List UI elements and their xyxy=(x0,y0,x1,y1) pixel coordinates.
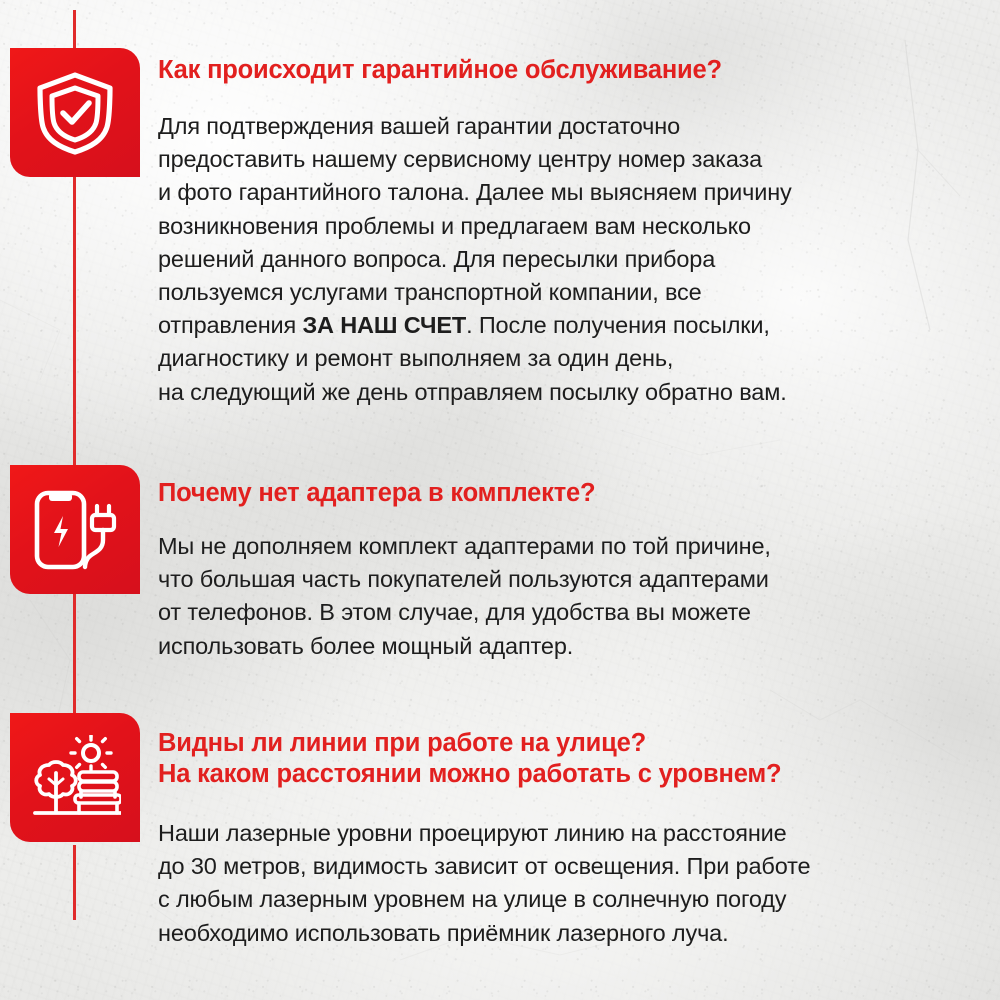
shield-check-icon xyxy=(34,71,116,155)
shield-check-icon-tile xyxy=(10,48,140,177)
answer-text-outdoor: Наши лазерные уровни проецируют линию на… xyxy=(158,817,988,950)
question-heading-warranty: Как происходит гарантийное обслуживание? xyxy=(158,55,988,86)
timeline-rail-bottom xyxy=(73,845,76,920)
timeline-rail-1-2 xyxy=(73,177,76,465)
park-bench-sun-icon xyxy=(29,735,121,821)
phone-charger-icon xyxy=(32,488,118,572)
question-heading-outdoor-line-2: На каком расстоянии можно работать с уро… xyxy=(158,759,988,790)
timeline-rail-top xyxy=(73,10,76,48)
answer-text-adapter: Мы не дополняем комплект адаптерами по т… xyxy=(158,530,988,663)
faq-page: Как происходит гарантийное обслуживание?… xyxy=(0,0,1000,1000)
answer-text-warranty: Для подтверждения вашей гарантии достато… xyxy=(158,110,988,409)
question-heading-adapter: Почему нет адаптера в комплекте? xyxy=(158,478,988,509)
timeline-rail-2-3 xyxy=(73,594,76,713)
phone-charger-icon-tile xyxy=(10,465,140,594)
question-heading-outdoor-line-1: Видны ли линии при работе на улице? xyxy=(158,728,988,759)
park-bench-sun-icon-tile xyxy=(10,713,140,842)
answer-part-1: Для подтверждения вашей гарантии достато… xyxy=(158,113,792,338)
answer-emphasis: ЗА НАШ СЧЕТ xyxy=(302,312,466,338)
